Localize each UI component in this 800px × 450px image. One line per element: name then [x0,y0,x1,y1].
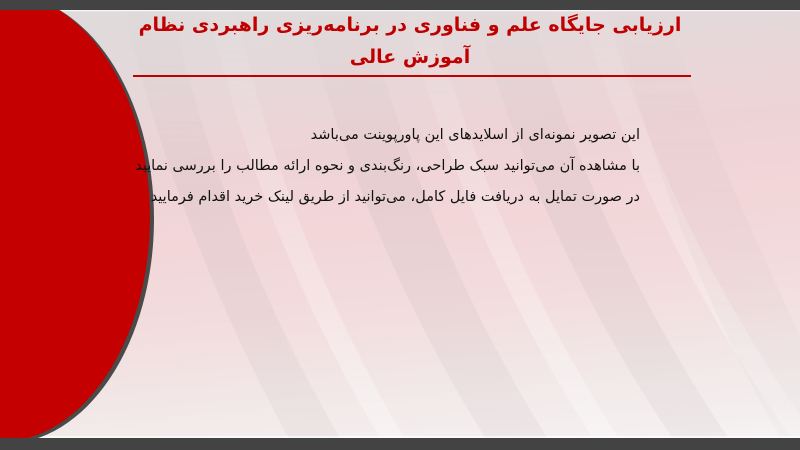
slide-content: ارزیابی جایگاه علم و فناوری در برنامه‌ری… [0,0,800,450]
body-line-2: با مشاهده آن می‌توانید سبک طراحی، رنگ‌بن… [140,151,640,182]
body-line-1: این تصویر نمونه‌ای از اسلایدهای این پاور… [140,120,640,151]
slide-body: این تصویر نمونه‌ای از اسلایدهای این پاور… [140,120,640,213]
title-underline-rule [133,75,691,77]
presentation-slide: ارزیابی جایگاه علم و فناوری در برنامه‌ری… [0,0,800,450]
slide-title-line-2: آموزش عالی [115,41,705,73]
slide-title: ارزیابی جایگاه علم و فناوری در برنامه‌ری… [115,9,705,73]
body-line-3: در صورت تمایل به دریافت فایل کامل، می‌تو… [140,182,640,213]
slide-title-line-1: ارزیابی جایگاه علم و فناوری در برنامه‌ری… [115,9,705,41]
